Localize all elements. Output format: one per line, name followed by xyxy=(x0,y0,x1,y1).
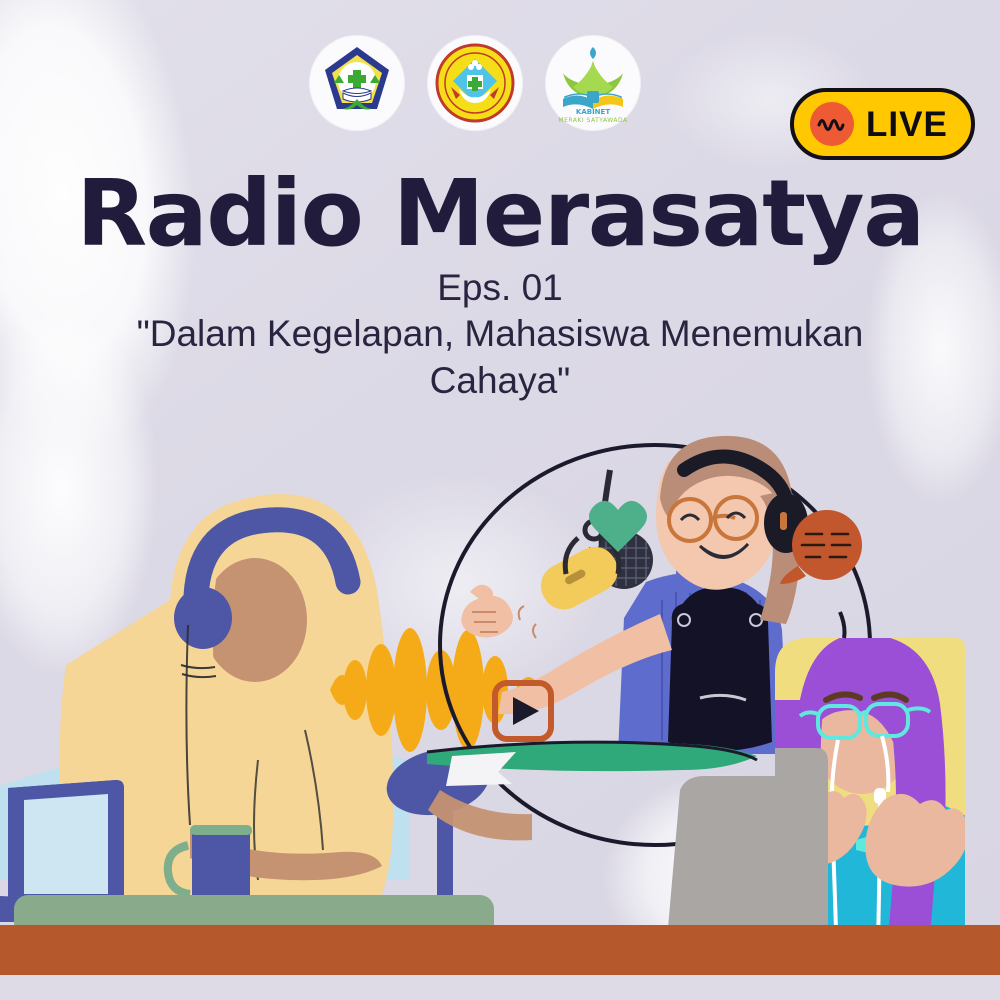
episode-number: Eps. 01 xyxy=(0,268,1000,309)
himpunan-mahasiswa-logo xyxy=(428,36,522,130)
svg-text:MERAKI SATYAWADA: MERAKI SATYAWADA xyxy=(558,117,628,124)
page-title: Radio Merasatya xyxy=(0,168,1000,260)
live-badge[interactable]: LIVE xyxy=(790,88,975,160)
audio-wave-icon xyxy=(810,102,854,146)
stikes-rs-husada-logo xyxy=(310,36,404,130)
center-laptop-grey xyxy=(668,776,786,928)
poster-canvas: KABINET MERAKI SATYAWADA LIVE Radio Mera… xyxy=(0,0,1000,1000)
floor-band xyxy=(0,925,1000,975)
live-label: LIVE xyxy=(866,107,948,142)
svg-text:KABINET: KABINET xyxy=(576,108,610,116)
logo-row: KABINET MERAKI SATYAWADA xyxy=(310,36,640,130)
bottom-margin xyxy=(0,975,1000,1000)
kabinet-meraki-satyawada-logo: KABINET MERAKI SATYAWADA xyxy=(546,36,640,130)
episode-title: "Dalam Kegelapan, Mahasiswa Menemukan Ca… xyxy=(90,310,910,405)
